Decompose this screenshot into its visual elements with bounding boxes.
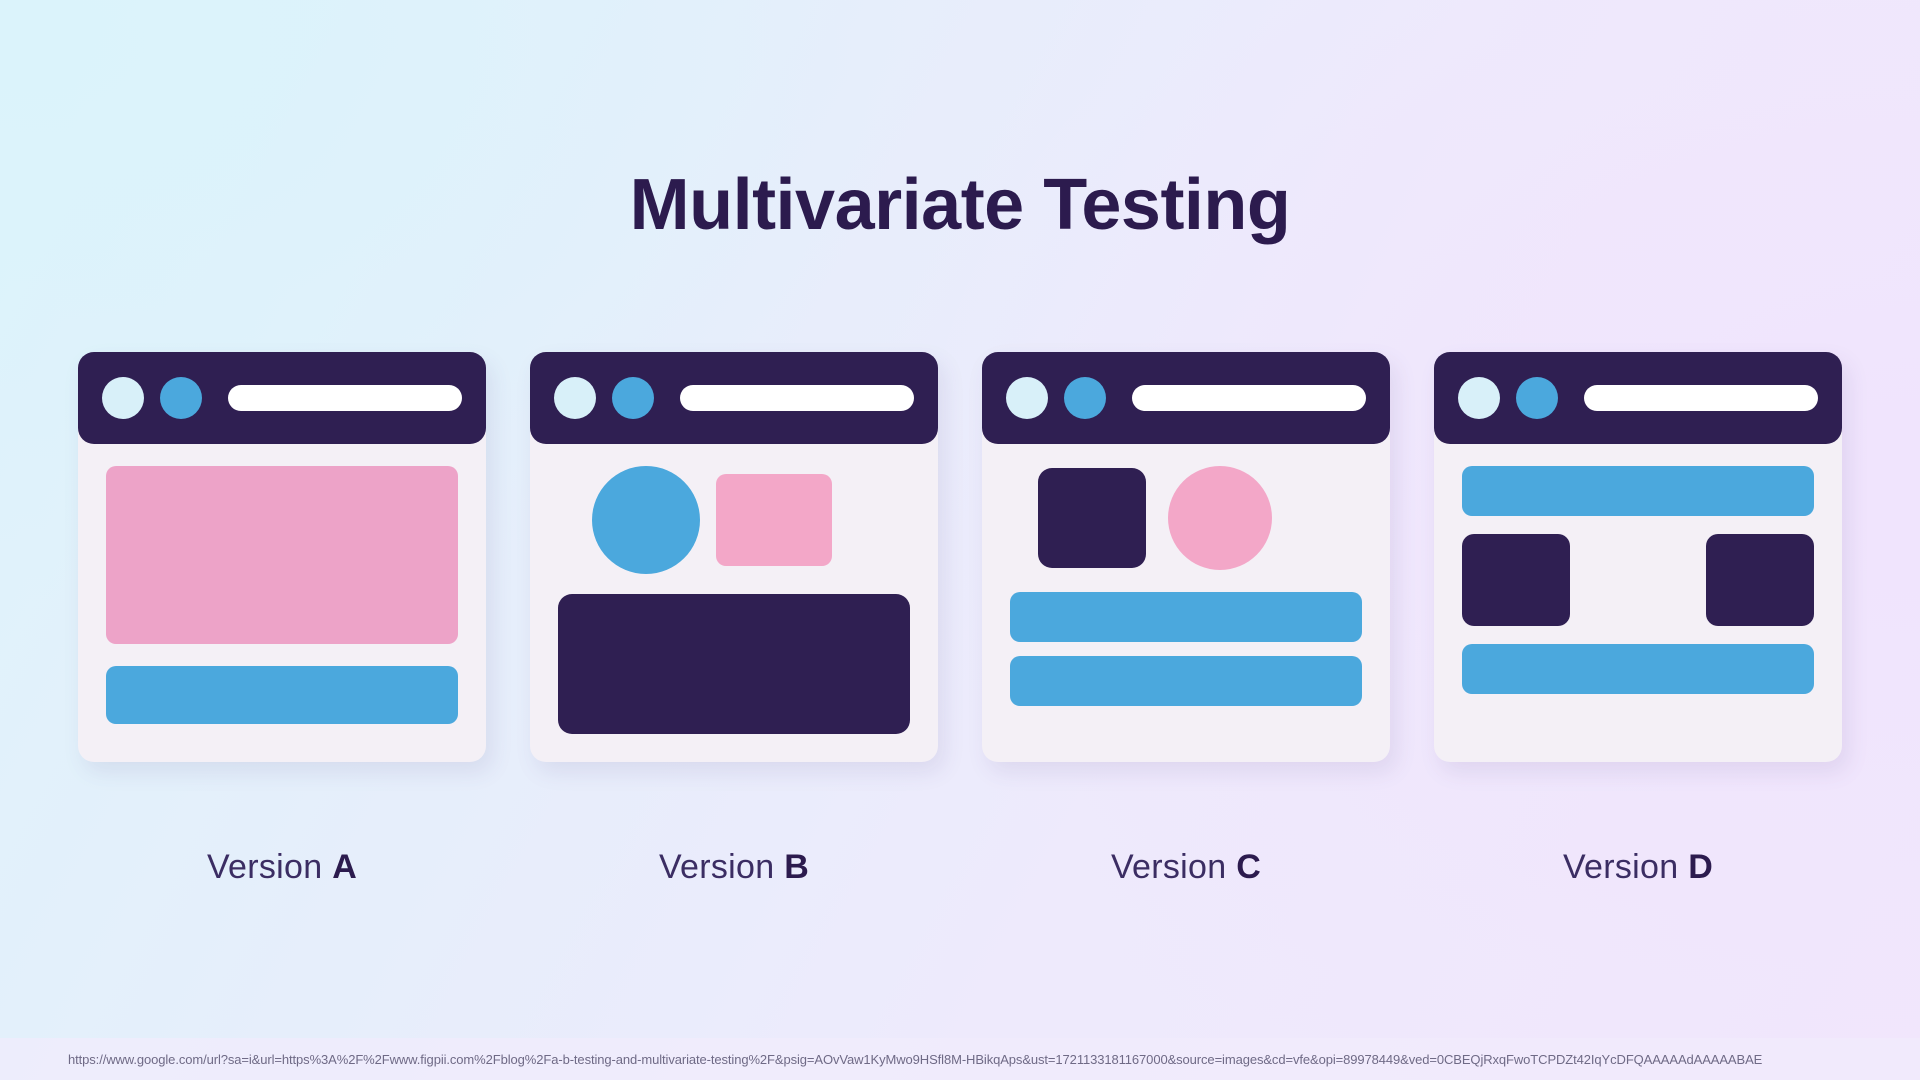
thumbnail-square-b — [716, 474, 832, 566]
tile-right-d — [1706, 534, 1814, 626]
media-row-b — [558, 466, 910, 574]
version-card-c[interactable]: Version C — [982, 352, 1390, 887]
page-content-c — [982, 444, 1390, 762]
version-label-prefix-c: Version — [1111, 848, 1236, 886]
window-dot-blue-icon — [160, 377, 202, 419]
browser-mockup-a — [78, 352, 486, 762]
version-label-letter-d: D — [1688, 848, 1713, 886]
version-label-prefix-d: Version — [1563, 848, 1688, 886]
window-dot-light-icon — [102, 377, 144, 419]
address-bar-a[interactable] — [228, 385, 462, 411]
text-bar-1-c — [1010, 592, 1362, 642]
version-label-letter-a: A — [332, 848, 357, 886]
content-block-b — [558, 594, 910, 734]
footer-bar-a — [106, 666, 458, 724]
browser-mockup-c — [982, 352, 1390, 762]
tile-left-d — [1462, 534, 1570, 626]
version-cards-row: Version A Version B — [0, 352, 1920, 887]
thumbnail-square-c — [1038, 468, 1146, 568]
browser-chrome-b — [530, 352, 938, 444]
version-label-b: Version B — [659, 848, 809, 887]
browser-chrome-a — [78, 352, 486, 444]
slide-canvas: Multivariate Testing Version A — [0, 0, 1920, 1080]
address-bar-d[interactable] — [1584, 385, 1818, 411]
window-dot-light-icon — [1458, 377, 1500, 419]
version-label-a: Version A — [207, 848, 357, 887]
window-dot-light-icon — [554, 377, 596, 419]
version-label-letter-c: C — [1236, 848, 1261, 886]
version-card-d[interactable]: Version D — [1434, 352, 1842, 887]
media-row-c — [1010, 466, 1362, 570]
top-bar-d — [1462, 466, 1814, 516]
tile-row-d — [1462, 534, 1814, 626]
version-card-a[interactable]: Version A — [78, 352, 486, 887]
source-url-text[interactable]: https://www.google.com/url?sa=i&url=http… — [0, 1052, 1762, 1067]
address-bar-b[interactable] — [680, 385, 914, 411]
page-title: Multivariate Testing — [0, 168, 1920, 244]
status-bar: https://www.google.com/url?sa=i&url=http… — [0, 1038, 1920, 1080]
page-content-b — [530, 444, 938, 762]
avatar-circle-c — [1168, 466, 1272, 570]
window-dot-blue-icon — [1516, 377, 1558, 419]
window-dot-blue-icon — [1064, 377, 1106, 419]
text-bar-2-c — [1010, 656, 1362, 706]
window-dot-light-icon — [1006, 377, 1048, 419]
version-card-b[interactable]: Version B — [530, 352, 938, 887]
window-dot-blue-icon — [612, 377, 654, 419]
hero-banner-a — [106, 466, 458, 644]
browser-mockup-b — [530, 352, 938, 762]
version-label-c: Version C — [1111, 848, 1261, 887]
bottom-bar-d — [1462, 644, 1814, 694]
version-label-d: Version D — [1563, 848, 1713, 887]
version-label-prefix-b: Version — [659, 848, 784, 886]
version-label-prefix-a: Version — [207, 848, 332, 886]
browser-chrome-d — [1434, 352, 1842, 444]
avatar-circle-b — [592, 466, 700, 574]
page-content-a — [78, 444, 486, 762]
browser-chrome-c — [982, 352, 1390, 444]
page-content-d — [1434, 444, 1842, 762]
address-bar-c[interactable] — [1132, 385, 1366, 411]
browser-mockup-d — [1434, 352, 1842, 762]
version-label-letter-b: B — [784, 848, 809, 886]
